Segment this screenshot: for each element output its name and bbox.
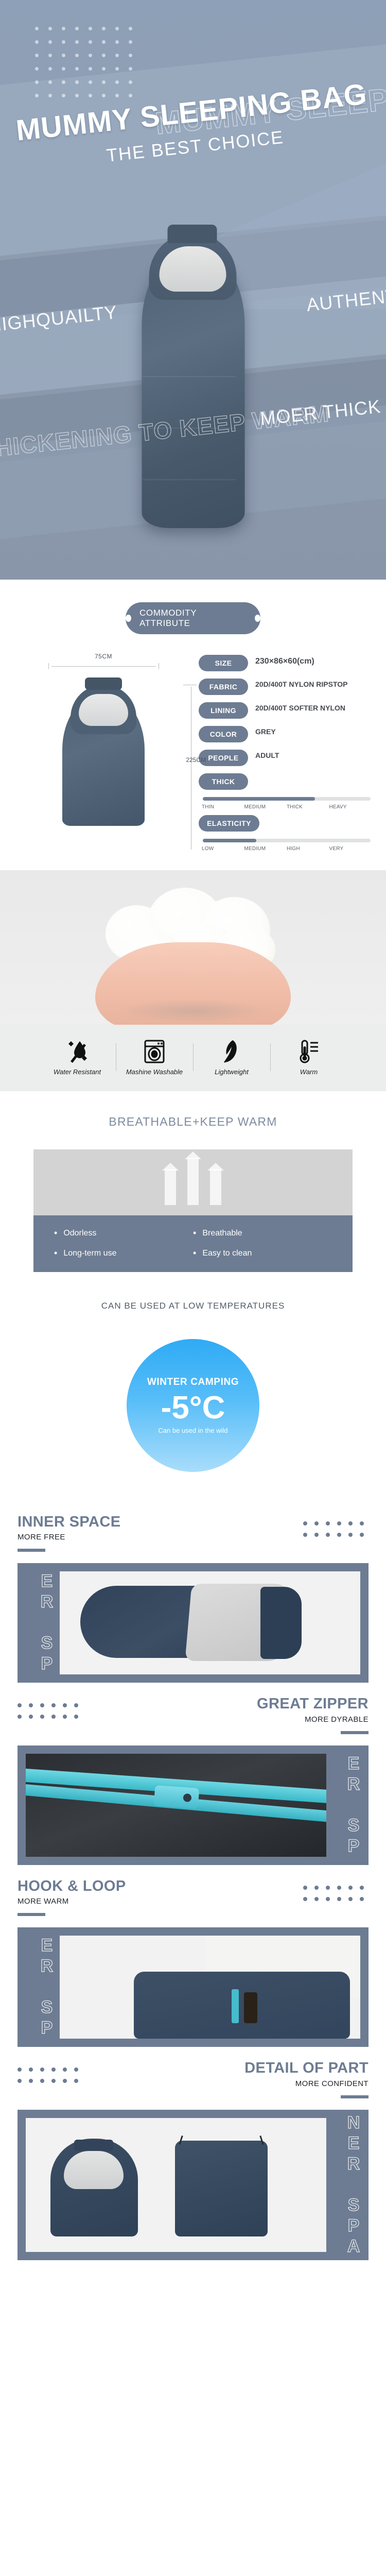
- feature-block-great-zipper: GREAT ZIPPER MORE DYRABLE INNER SPACE: [0, 1683, 386, 1865]
- feature-subtitle: MORE WARM: [17, 1897, 293, 1906]
- panel-side-label: INNER SPACE: [23, 1569, 57, 1676]
- meter-scale-label: LOW: [202, 846, 244, 852]
- sleeping-bag-liner: [64, 2151, 124, 2189]
- spec-row-lining: LINING 20D/400T SOFTER NYLON: [199, 702, 373, 719]
- width-measure-bar: [48, 663, 159, 669]
- feature-label: Warm: [270, 1068, 347, 1076]
- spec-list: SIZE 230×86×60(cm) FABRIC 20D/400T NYLON…: [194, 653, 373, 852]
- list-item: Easy to clean: [193, 1248, 332, 1259]
- meter-scale-label: MEDIUM: [244, 804, 287, 810]
- dimension-diagram: 75CM 225CM: [13, 653, 194, 852]
- washing-machine-icon: [116, 1038, 193, 1065]
- feature-icons-row: Water Resistant Mashine Washable: [0, 1038, 386, 1076]
- panel-side-label: INNER SPACE: [329, 1752, 363, 1859]
- meter-scale-label: HEAVY: [329, 804, 372, 810]
- meter-scale: THIN MEDIUM THICK HEAVY: [202, 804, 372, 810]
- feature-label: Mashine Washable: [116, 1068, 193, 1076]
- feature-photo-panel: INNER SPACE: [17, 1927, 369, 2047]
- sleeping-bag-closed-view: [175, 2141, 268, 2236]
- water-drop-icon: [39, 1038, 116, 1065]
- dot-pattern-decoration: [17, 1703, 83, 1723]
- winter-camping-label: WINTER CAMPING: [147, 1377, 239, 1388]
- meter-scale-label: VERY: [329, 846, 372, 852]
- spec-key: FABRIC: [199, 679, 248, 695]
- meter-scale: LOW MEDIUM HIGH VERY: [202, 846, 372, 852]
- meter-fill: [203, 797, 315, 801]
- list-item: Breathable: [193, 1228, 332, 1239]
- spec-value: GREY: [255, 726, 276, 737]
- sleeping-bag-seam: [143, 479, 236, 480]
- dot-pattern-decoration: [303, 1886, 369, 1906]
- temperature-value: -5°C: [161, 1391, 225, 1425]
- feature-subtitle: MORE DYRABLE: [93, 1715, 369, 1724]
- meter-fill: [203, 839, 256, 842]
- feature-title: INNER SPACE: [17, 1514, 293, 1530]
- meter-scale-label: THICK: [287, 804, 329, 810]
- list-item: Odorless: [54, 1228, 193, 1239]
- hand-shadow: [116, 999, 270, 1023]
- commodity-attribute-badge: COMMODITY ATTRIBUTE: [126, 602, 260, 634]
- feature-title: HOOK & LOOP: [17, 1878, 293, 1894]
- badge-hole-left-icon: [126, 615, 131, 622]
- zipper-slider: [154, 1785, 200, 1809]
- spec-key: SIZE: [199, 655, 248, 671]
- feature-header: DETAIL OF PART MORE CONFIDENT: [17, 2060, 369, 2098]
- dimension-product-image: [62, 676, 145, 826]
- feature-heading-text: INNER SPACE MORE FREE: [17, 1514, 293, 1552]
- sleeping-bag-liner: [160, 246, 226, 292]
- spec-row-fabric: FABRIC 20D/400T NYLON RIPSTOP: [199, 679, 373, 695]
- feature-block-detail-of-part: DETAIL OF PART MORE CONFIDENT INNER SPAC…: [0, 2047, 386, 2273]
- feature-header: HOOK & LOOP MORE WARM: [17, 1878, 369, 1916]
- meter-key: ELASTICITY: [199, 815, 259, 832]
- feature-underline: [17, 1549, 45, 1552]
- feature-header: GREAT ZIPPER MORE DYRABLE: [17, 1696, 369, 1734]
- breathable-card: Odorless Breathable Long-term use Easy t…: [33, 1149, 353, 1272]
- temperature-section: CAN BE USED AT LOW TEMPERATURES WINTER C…: [0, 1277, 386, 1501]
- sleeping-bag-collar: [74, 2140, 113, 2151]
- hero-product-image: [138, 222, 249, 531]
- feature-title: GREAT ZIPPER: [93, 1696, 369, 1711]
- width-dimension: 75CM: [13, 653, 194, 669]
- dot-pattern-decoration: [35, 27, 137, 103]
- sleeping-bag-seam: [143, 428, 236, 429]
- thermometer-icon: [270, 1038, 347, 1065]
- product-detail-page: MUMMY SLEEPING BAG MUMMY SLEEPING BAG TH…: [0, 0, 386, 2274]
- breathable-heading: BREATHABLE+KEEP WARM: [0, 1091, 386, 1149]
- dot-pattern-decoration: [303, 1521, 369, 1541]
- feature-lightweight: Lightweight: [193, 1038, 270, 1076]
- spec-row-people: PEOPLE ADULT: [199, 750, 373, 766]
- temperature-note: Can be used in the wild: [158, 1427, 227, 1434]
- spec-key: LINING: [199, 702, 248, 719]
- feature-heading-text: HOOK & LOOP MORE WARM: [17, 1878, 293, 1916]
- feature-photo-panel: INNER SPACE: [17, 2110, 369, 2260]
- list-item: Long-term use: [54, 1248, 193, 1259]
- feature-warm: Warm: [270, 1038, 347, 1076]
- feature-heading-text: DETAIL OF PART MORE CONFIDENT: [93, 2060, 369, 2098]
- feature-underline: [341, 2095, 369, 2098]
- product-photo: [60, 1936, 360, 2039]
- arrow-up-icon: [187, 1158, 199, 1205]
- feature-heading-text: GREAT ZIPPER MORE DYRABLE: [93, 1696, 369, 1734]
- sleeping-bag-seam: [143, 376, 236, 377]
- breathable-section: Odorless Breathable Long-term use Easy t…: [0, 1149, 386, 1277]
- panel-side-label: INNER SPACE: [329, 2116, 363, 2254]
- feature-block-hook-and-loop: HOOK & LOOP MORE WARM INNER SPACE: [0, 1865, 386, 2047]
- temperature-heading: CAN BE USED AT LOW TEMPERATURES: [0, 1301, 386, 1311]
- feature-underline: [341, 1731, 369, 1734]
- breathable-bullet-list: Odorless Breathable Long-term use Easy t…: [33, 1215, 353, 1272]
- commodity-attribute-section: COMMODITY ATTRIBUTE 75CM 225CM: [0, 580, 386, 870]
- feature-underline: [17, 1913, 45, 1916]
- spec-value: ADULT: [255, 750, 279, 760]
- sleeping-bag-liner: [79, 694, 128, 726]
- breathable-illustration: [33, 1149, 353, 1215]
- panel-side-label: INNER SPACE: [23, 1934, 57, 2041]
- height-measure-bar: [191, 687, 191, 850]
- spec-key: COLOR: [199, 726, 248, 742]
- feature-machine-washable: Mashine Washable: [116, 1038, 193, 1076]
- temperature-badge: WINTER CAMPING -5°C Can be used in the w…: [127, 1339, 259, 1472]
- sleeping-bag-edge: [134, 1972, 350, 2039]
- meter-thick: THICK THIN MEDIUM THICK HEAVY: [199, 773, 373, 810]
- meter-scale-label: THIN: [202, 804, 244, 810]
- feature-label: Water Resistant: [39, 1068, 116, 1076]
- sleeping-bag-foot: [260, 1587, 302, 1659]
- sleeping-bag-open-view: [50, 2139, 138, 2236]
- meter-scale-label: MEDIUM: [244, 846, 287, 852]
- hero-banner: MUMMY SLEEPING BAG MUMMY SLEEPING BAG TH…: [0, 0, 386, 580]
- feature-photo-panel: INNER SPACE: [17, 1745, 369, 1865]
- spec-row-color: COLOR GREY: [199, 726, 373, 742]
- zipper-tape: [232, 1989, 239, 2023]
- sleeping-bag-collar: [168, 225, 217, 243]
- down-filling-photo: [0, 870, 386, 1025]
- meter-scale-label: HIGH: [287, 846, 329, 852]
- spec-value: 230×86×60(cm): [255, 655, 314, 667]
- feather-icon: [193, 1038, 270, 1065]
- spec-key: PEOPLE: [199, 750, 248, 766]
- badge-hole-right-icon: [255, 615, 260, 622]
- attribute-body: 75CM 225CM SIZE 230×86×60(cm): [0, 653, 386, 852]
- feature-water-resistant: Water Resistant: [39, 1038, 116, 1076]
- width-label: 75CM: [13, 653, 194, 660]
- feature-icons-section: Water Resistant Mashine Washable: [0, 1025, 386, 1091]
- meter-key: THICK: [199, 773, 248, 790]
- meter-track: [203, 839, 371, 842]
- height-measure-tick: [183, 685, 197, 685]
- feature-photo-panel: INNER SPACE: [17, 1563, 369, 1683]
- spec-value: 20D/400T NYLON RIPSTOP: [255, 679, 347, 689]
- meter-elasticity: ELASTICITY LOW MEDIUM HIGH VERY: [199, 815, 373, 852]
- product-photo: [60, 1571, 360, 1674]
- feature-subtitle: MORE CONFIDENT: [93, 2079, 369, 2088]
- height-label: 225CM: [186, 756, 206, 764]
- feature-label: Lightweight: [193, 1068, 270, 1076]
- feature-header: INNER SPACE MORE FREE: [17, 1514, 369, 1552]
- arrow-up-icon: [210, 1169, 221, 1205]
- product-photo: [26, 2118, 326, 2252]
- hook-and-loop-tab: [244, 1992, 257, 2023]
- airflow-arrows-icon: [165, 1158, 221, 1205]
- product-photo: [26, 1754, 326, 1857]
- feature-title: DETAIL OF PART: [93, 2060, 369, 2076]
- meter-track: [203, 797, 371, 801]
- spec-row-size: SIZE 230×86×60(cm): [199, 655, 373, 671]
- dot-pattern-decoration: [17, 2067, 83, 2088]
- arrow-up-icon: [165, 1169, 176, 1205]
- feature-block-inner-space: INNER SPACE MORE FREE INNER SPACE: [0, 1501, 386, 1683]
- sleeping-bag-collar: [85, 677, 122, 690]
- feature-subtitle: MORE FREE: [17, 1533, 293, 1541]
- commodity-attribute-title: COMMODITY ATTRIBUTE: [139, 608, 247, 629]
- spec-value: 20D/400T SOFTER NYLON: [255, 702, 345, 713]
